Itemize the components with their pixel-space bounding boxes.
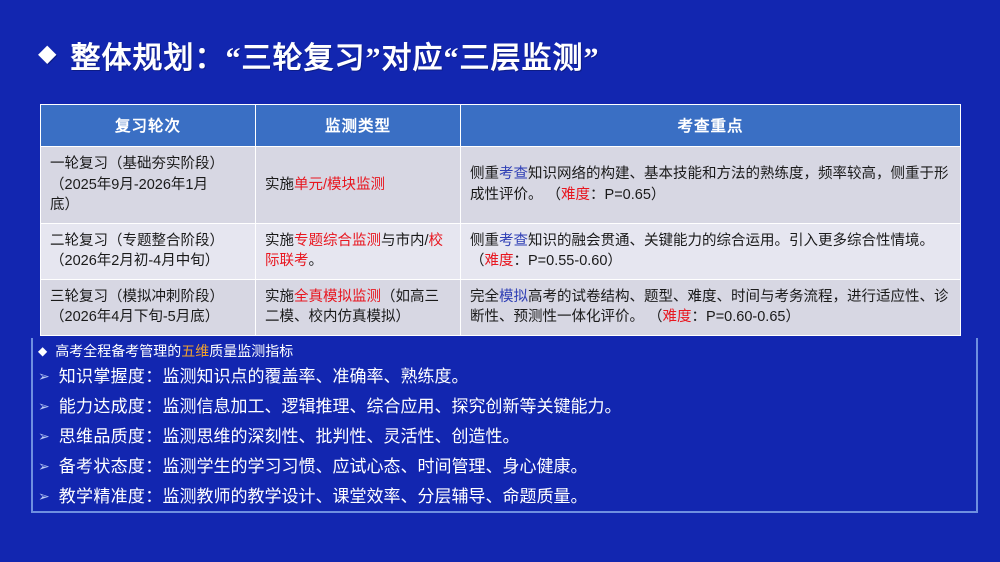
cell-assessment-focus: 侧重考查知识网络的构建、基本技能和方法的熟练度，频率较高，侧重于形成性评价。 （… xyxy=(461,147,961,224)
difficulty-label: 难度 xyxy=(485,253,514,269)
focus-prefix: 侧重 xyxy=(470,166,499,182)
monitor-type-prefix: 实施 xyxy=(265,233,294,249)
indicator-label: 能力达成度： xyxy=(59,393,163,421)
arrow-bullet-icon: ➢ xyxy=(38,483,50,511)
column-header-monitor-type: 监测类型 xyxy=(256,105,461,147)
page-title: ◆ 整体规划：“三轮复习”对应“三层监测” xyxy=(38,33,599,77)
indicator-text: 监测教师的教学设计、课堂效率、分层辅导、命题质量。 xyxy=(163,483,588,511)
arrow-bullet-icon: ➢ xyxy=(38,423,50,451)
list-item: ➢ 能力达成度： 监测信息加工、逻辑推理、综合应用、探究创新等关键能力。 xyxy=(38,393,968,421)
heading-pre: 高考全程备考管理的 xyxy=(55,343,181,359)
round-line-2: （2026年4月下旬-5月底） xyxy=(50,307,219,328)
round-line-1: 一轮复习（基础夯实阶段） xyxy=(50,156,224,172)
focus-keyword: 考查 xyxy=(499,233,528,249)
indicator-heading-text: 高考全程备考管理的五维质量监测指标 xyxy=(55,341,293,362)
diamond-bullet-icon: ◆ xyxy=(38,42,57,66)
monitor-type-prefix: 实施 xyxy=(265,177,294,193)
monitor-type-suffix: 。 xyxy=(309,253,324,269)
monitor-type-middle: 与市内/ xyxy=(381,233,429,249)
cell-review-round: 一轮复习（基础夯实阶段） （2025年9月-2026年1月 底） xyxy=(41,147,256,224)
round-line-3: 底） xyxy=(50,197,79,213)
table-row: 一轮复习（基础夯实阶段） （2025年9月-2026年1月 底） 实施单元/模块… xyxy=(41,147,961,224)
focus-prefix: 侧重 xyxy=(470,233,499,249)
difficulty-value: ：P=0.65） xyxy=(590,187,665,203)
heading-highlight: 五维 xyxy=(181,343,209,359)
list-item: ➢ 思维品质度： 监测思维的深刻性、批判性、灵活性、创造性。 xyxy=(38,423,968,451)
focus-keyword: 模拟 xyxy=(499,289,528,305)
cell-monitor-type: 实施全真模拟监测（如高三二模、校内仿真模拟） xyxy=(256,279,461,335)
focus-body: 知识网络的构建、基本技能和方法的熟练度，频率较高，侧重于形成性评价。 （ xyxy=(470,166,949,203)
difficulty-value: ：P=0.60-0.65） xyxy=(692,309,800,325)
monitor-type-highlight: 全真模拟监测 xyxy=(294,289,381,305)
table-row: 三轮复习（模拟冲刺阶段） （2026年4月下旬-5月底） 实施全真模拟监测（如高… xyxy=(41,279,961,335)
indicator-text: 监测思维的深刻性、批判性、灵活性、创造性。 xyxy=(163,423,520,451)
indicator-text: 监测知识点的覆盖率、准确率、熟练度。 xyxy=(163,363,469,391)
review-plan-table-wrapper: 复习轮次 监测类型 考查重点 一轮复习（基础夯实阶段） （2025年9月-202… xyxy=(40,104,960,336)
focus-keyword: 考查 xyxy=(499,166,528,182)
list-item: ➢ 知识掌握度： 监测知识点的覆盖率、准确率、熟练度。 xyxy=(38,363,968,391)
indicator-list: ◆ 高考全程备考管理的五维质量监测指标 ➢ 知识掌握度： 监测知识点的覆盖率、准… xyxy=(38,341,968,513)
cell-monitor-type: 实施单元/模块监测 xyxy=(256,147,461,224)
difficulty-label: 难度 xyxy=(663,309,692,325)
table-row: 二轮复习（专题整合阶段） （2026年2月初-4月中旬） 实施专题综合监测与市内… xyxy=(41,223,961,279)
indicator-label: 思维品质度： xyxy=(59,423,163,451)
focus-prefix: 完全 xyxy=(470,289,499,305)
arrow-bullet-icon: ➢ xyxy=(38,363,50,391)
review-plan-table: 复习轮次 监测类型 考查重点 一轮复习（基础夯实阶段） （2025年9月-202… xyxy=(40,104,961,336)
page-title-text: 整体规划：“三轮复习”对应“三层监测” xyxy=(70,33,599,77)
indicator-label: 备考状态度： xyxy=(59,453,163,481)
difficulty-label: 难度 xyxy=(561,187,590,203)
monitor-type-prefix: 实施 xyxy=(265,289,294,305)
list-item: ➢ 备考状态度： 监测学生的学习习惯、应试心态、时间管理、身心健康。 xyxy=(38,453,968,481)
list-item: ➢ 教学精准度： 监测教师的教学设计、课堂效率、分层辅导、命题质量。 xyxy=(38,483,968,511)
cell-review-round: 二轮复习（专题整合阶段） （2026年2月初-4月中旬） xyxy=(41,223,256,279)
indicator-label: 教学精准度： xyxy=(59,483,163,511)
round-line-2: （2025年9月-2026年1月 xyxy=(50,175,208,196)
indicator-label: 知识掌握度： xyxy=(59,363,163,391)
table-header-row: 复习轮次 监测类型 考查重点 xyxy=(41,105,961,147)
round-line-2: （2026年2月初-4月中旬） xyxy=(50,251,219,272)
difficulty-value: ：P=0.55-0.60） xyxy=(514,253,622,269)
monitor-type-highlight: 专题综合监测 xyxy=(294,233,381,249)
indicator-text: 监测信息加工、逻辑推理、综合应用、探究创新等关键能力。 xyxy=(163,393,622,421)
column-header-round: 复习轮次 xyxy=(41,105,256,147)
cell-review-round: 三轮复习（模拟冲刺阶段） （2026年4月下旬-5月底） xyxy=(41,279,256,335)
indicator-heading: ◆ 高考全程备考管理的五维质量监测指标 xyxy=(38,341,968,362)
arrow-bullet-icon: ➢ xyxy=(38,393,50,421)
indicator-text: 监测学生的学习习惯、应试心态、时间管理、身心健康。 xyxy=(163,453,588,481)
round-line-1: 三轮复习（模拟冲刺阶段） xyxy=(50,289,224,305)
round-line-1: 二轮复习（专题整合阶段） xyxy=(50,233,224,249)
cell-assessment-focus: 侧重考查知识的融会贯通、关键能力的综合运用。引入更多综合性情境。 （难度：P=0… xyxy=(461,223,961,279)
cell-assessment-focus: 完全模拟高考的试卷结构、题型、难度、时间与考务流程，进行适应性、诊断性、预测性一… xyxy=(461,279,961,335)
column-header-assessment-focus: 考查重点 xyxy=(461,105,961,147)
heading-post: 质量监测指标 xyxy=(209,343,293,359)
cell-monitor-type: 实施专题综合监测与市内/校际联考。 xyxy=(256,223,461,279)
diamond-bullet-icon: ◆ xyxy=(38,341,47,362)
monitor-type-highlight: 单元/模块监测 xyxy=(294,177,385,193)
arrow-bullet-icon: ➢ xyxy=(38,453,50,481)
